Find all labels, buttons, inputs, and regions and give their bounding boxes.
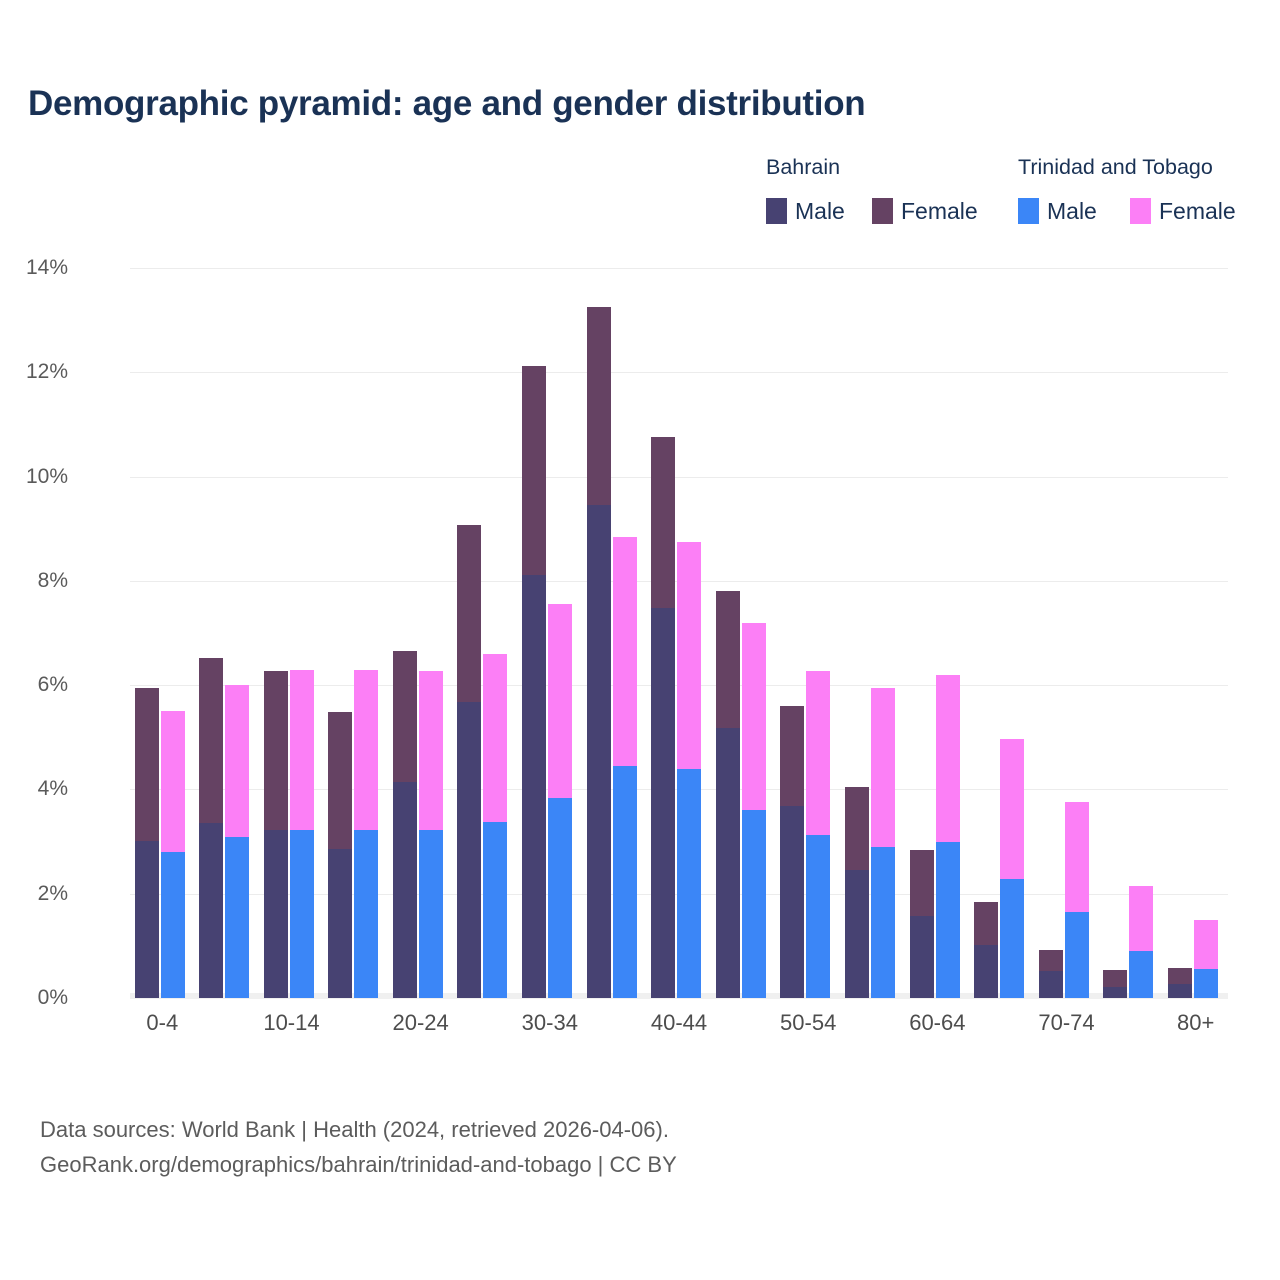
bar-segment-trinidad-and-tobago-female[interactable] bbox=[936, 675, 960, 842]
bar-segment-trinidad-and-tobago-female[interactable] bbox=[354, 670, 378, 831]
bar-group bbox=[454, 268, 519, 998]
bar-bahrain[interactable] bbox=[457, 525, 481, 998]
bar-segment-trinidad-and-tobago-female[interactable] bbox=[419, 671, 443, 830]
bar-segment-bahrain-female[interactable] bbox=[264, 671, 288, 830]
bar-segment-trinidad-and-tobago-female[interactable] bbox=[1129, 886, 1153, 951]
bar-segment-trinidad-and-tobago-male[interactable] bbox=[419, 830, 443, 998]
bar-segment-trinidad-and-tobago-female[interactable] bbox=[1194, 920, 1218, 970]
bar-segment-bahrain-female[interactable] bbox=[845, 787, 869, 870]
y-axis-tick-label: 12% bbox=[0, 360, 68, 384]
bar-segment-trinidad-and-tobago-female[interactable] bbox=[613, 537, 637, 766]
bar-bahrain[interactable] bbox=[135, 688, 159, 998]
bar-bahrain[interactable] bbox=[1039, 950, 1063, 998]
x-axis-tick-label: 50-54 bbox=[780, 1010, 836, 1036]
bar-segment-trinidad-and-tobago-male[interactable] bbox=[1129, 951, 1153, 998]
x-axis-tick-label: 10-14 bbox=[263, 1010, 319, 1036]
bar-segment-bahrain-male[interactable] bbox=[1103, 987, 1127, 998]
bar-bahrain[interactable] bbox=[199, 658, 223, 998]
bar-segment-bahrain-female[interactable] bbox=[780, 706, 804, 806]
bar-group bbox=[261, 268, 326, 998]
bar-trinidad-and-tobago[interactable] bbox=[742, 623, 766, 998]
bar-segment-trinidad-and-tobago-female[interactable] bbox=[225, 685, 249, 838]
bar-bahrain[interactable] bbox=[1103, 970, 1127, 998]
bar-segment-bahrain-male[interactable] bbox=[199, 823, 223, 998]
y-axis-tick-label: 10% bbox=[0, 465, 68, 489]
y-axis-tick-label: 4% bbox=[0, 777, 68, 801]
bar-bahrain[interactable] bbox=[328, 712, 352, 998]
bar-trinidad-and-tobago[interactable] bbox=[1000, 739, 1024, 998]
bar-segment-bahrain-male[interactable] bbox=[587, 505, 611, 998]
bar-segment-trinidad-and-tobago-male[interactable] bbox=[936, 842, 960, 998]
bar-segment-bahrain-male[interactable] bbox=[845, 870, 869, 998]
y-axis-tick-label: 14% bbox=[0, 256, 68, 280]
bar-segment-trinidad-and-tobago-female[interactable] bbox=[1000, 739, 1024, 879]
bar-segment-trinidad-and-tobago-male[interactable] bbox=[161, 852, 185, 998]
y-axis-tick-label: 6% bbox=[0, 673, 68, 697]
bar-group bbox=[132, 268, 197, 998]
bar-group bbox=[390, 268, 455, 998]
bar-group bbox=[196, 268, 261, 998]
bar-segment-bahrain-male[interactable] bbox=[522, 575, 546, 998]
bar-segment-bahrain-female[interactable] bbox=[910, 850, 934, 915]
bar-trinidad-and-tobago[interactable] bbox=[354, 670, 378, 999]
bar-group bbox=[842, 268, 907, 998]
bar-segment-trinidad-and-tobago-male[interactable] bbox=[483, 822, 507, 998]
bar-bahrain[interactable] bbox=[393, 651, 417, 998]
bar-segment-bahrain-female[interactable] bbox=[457, 525, 481, 702]
bar-segment-trinidad-and-tobago-male[interactable] bbox=[290, 830, 314, 998]
bar-segment-bahrain-male[interactable] bbox=[264, 830, 288, 998]
bar-trinidad-and-tobago[interactable] bbox=[1129, 886, 1153, 998]
bar-trinidad-and-tobago[interactable] bbox=[613, 537, 637, 998]
bar-segment-trinidad-and-tobago-male[interactable] bbox=[1194, 969, 1218, 998]
bar-bahrain[interactable] bbox=[1168, 968, 1192, 998]
bar-segment-trinidad-and-tobago-female[interactable] bbox=[742, 623, 766, 811]
bar-segment-trinidad-and-tobago-female[interactable] bbox=[1065, 802, 1089, 912]
bar-trinidad-and-tobago[interactable] bbox=[677, 542, 701, 998]
bar-group bbox=[907, 268, 972, 998]
bar-segment-bahrain-female[interactable] bbox=[716, 591, 740, 728]
x-axis-tick-label: 60-64 bbox=[909, 1010, 965, 1036]
bar-segment-bahrain-male[interactable] bbox=[135, 841, 159, 998]
bar-segment-bahrain-female[interactable] bbox=[522, 366, 546, 575]
bar-group bbox=[1165, 268, 1230, 998]
bar-segment-bahrain-male[interactable] bbox=[1168, 984, 1192, 998]
bar-segment-bahrain-female[interactable] bbox=[1039, 950, 1063, 971]
bar-trinidad-and-tobago[interactable] bbox=[548, 604, 572, 998]
bar-segment-bahrain-female[interactable] bbox=[1168, 968, 1192, 985]
x-axis-tick-label: 70-74 bbox=[1038, 1010, 1094, 1036]
plot-area: 0%2%4%6%8%10%12%14% 0-410-1420-2430-3440… bbox=[130, 268, 1228, 998]
footer: Data sources: World Bank | Health (2024,… bbox=[40, 1112, 1140, 1182]
plot-wrapper: Share of population 0%2%4%6%8%10%12%14% … bbox=[0, 0, 1280, 1280]
bar-group bbox=[713, 268, 778, 998]
bar-segment-bahrain-female[interactable] bbox=[651, 437, 675, 608]
bar-segment-trinidad-and-tobago-female[interactable] bbox=[290, 670, 314, 831]
bar-trinidad-and-tobago[interactable] bbox=[161, 711, 185, 998]
x-axis-tick-label: 80+ bbox=[1177, 1010, 1214, 1036]
bar-segment-trinidad-and-tobago-female[interactable] bbox=[483, 654, 507, 822]
bar-segment-trinidad-and-tobago-male[interactable] bbox=[354, 830, 378, 998]
footer-attribution: GeoRank.org/demographics/bahrain/trinida… bbox=[40, 1147, 1140, 1182]
bar-bahrain[interactable] bbox=[651, 437, 675, 998]
bar-segment-trinidad-and-tobago-male[interactable] bbox=[742, 810, 766, 998]
bar-trinidad-and-tobago[interactable] bbox=[1065, 802, 1089, 998]
bar-bahrain[interactable] bbox=[264, 671, 288, 998]
bar-group bbox=[648, 268, 713, 998]
bar-segment-trinidad-and-tobago-male[interactable] bbox=[1065, 912, 1089, 998]
bar-trinidad-and-tobago[interactable] bbox=[1194, 920, 1218, 998]
y-axis-tick-label: 8% bbox=[0, 569, 68, 593]
bar-segment-bahrain-male[interactable] bbox=[328, 849, 352, 998]
bar-segment-bahrain-male[interactable] bbox=[780, 806, 804, 998]
footer-data-sources: Data sources: World Bank | Health (2024,… bbox=[40, 1112, 1140, 1147]
bar-segment-bahrain-female[interactable] bbox=[974, 902, 998, 945]
bar-segment-bahrain-female[interactable] bbox=[1103, 970, 1127, 987]
bar-bahrain[interactable] bbox=[587, 307, 611, 998]
bar-segment-trinidad-and-tobago-female[interactable] bbox=[161, 711, 185, 852]
y-axis-tick-label: 2% bbox=[0, 882, 68, 906]
bar-segment-trinidad-and-tobago-male[interactable] bbox=[677, 769, 701, 998]
bar-group bbox=[777, 268, 842, 998]
bar-segment-bahrain-male[interactable] bbox=[457, 702, 481, 998]
bar-bahrain[interactable] bbox=[974, 902, 998, 998]
bar-segment-bahrain-male[interactable] bbox=[974, 945, 998, 998]
bar-segment-trinidad-and-tobago-female[interactable] bbox=[548, 604, 572, 798]
bar-group bbox=[971, 268, 1036, 998]
bar-segment-bahrain-male[interactable] bbox=[393, 782, 417, 998]
bar-segment-trinidad-and-tobago-male[interactable] bbox=[1000, 879, 1024, 998]
bar-bahrain[interactable] bbox=[910, 850, 934, 998]
bar-group bbox=[1036, 268, 1101, 998]
bar-segment-trinidad-and-tobago-male[interactable] bbox=[613, 766, 637, 998]
bar-segment-bahrain-female[interactable] bbox=[393, 651, 417, 781]
bar-segment-bahrain-female[interactable] bbox=[328, 712, 352, 849]
bar-trinidad-and-tobago[interactable] bbox=[806, 671, 830, 998]
x-axis-tick-label: 20-24 bbox=[393, 1010, 449, 1036]
bar-segment-trinidad-and-tobago-male[interactable] bbox=[548, 798, 572, 998]
bar-bahrain[interactable] bbox=[522, 366, 546, 998]
bar-segment-bahrain-male[interactable] bbox=[716, 728, 740, 998]
chart-page: Demographic pyramid: age and gender dist… bbox=[0, 0, 1280, 1280]
x-axis-tick-label: 30-34 bbox=[522, 1010, 578, 1036]
bar-segment-bahrain-male[interactable] bbox=[1039, 971, 1063, 998]
bar-trinidad-and-tobago[interactable] bbox=[871, 688, 895, 998]
bar-trinidad-and-tobago[interactable] bbox=[483, 654, 507, 998]
bar-trinidad-and-tobago[interactable] bbox=[419, 671, 443, 998]
bar-bahrain[interactable] bbox=[780, 706, 804, 998]
bar-segment-bahrain-female[interactable] bbox=[199, 658, 223, 824]
bar-segment-bahrain-female[interactable] bbox=[135, 688, 159, 841]
bar-segment-trinidad-and-tobago-male[interactable] bbox=[225, 837, 249, 998]
bar-trinidad-and-tobago[interactable] bbox=[225, 685, 249, 998]
bar-segment-trinidad-and-tobago-female[interactable] bbox=[677, 542, 701, 769]
bar-bahrain[interactable] bbox=[845, 787, 869, 998]
bar-group bbox=[325, 268, 390, 998]
bar-segment-bahrain-male[interactable] bbox=[651, 608, 675, 998]
x-axis-tick-label: 0-4 bbox=[146, 1010, 178, 1036]
bar-segment-trinidad-and-tobago-male[interactable] bbox=[806, 835, 830, 998]
bar-trinidad-and-tobago[interactable] bbox=[936, 675, 960, 998]
bar-bahrain[interactable] bbox=[716, 591, 740, 998]
bar-segment-bahrain-male[interactable] bbox=[910, 916, 934, 998]
bar-group bbox=[584, 268, 649, 998]
bar-segment-trinidad-and-tobago-female[interactable] bbox=[871, 688, 895, 847]
y-axis-tick-label: 0% bbox=[0, 986, 68, 1010]
bar-group bbox=[1100, 268, 1165, 998]
bar-trinidad-and-tobago[interactable] bbox=[290, 670, 314, 999]
x-axis-tick-label: 40-44 bbox=[651, 1010, 707, 1036]
bar-segment-bahrain-female[interactable] bbox=[587, 307, 611, 505]
bar-segment-trinidad-and-tobago-female[interactable] bbox=[806, 671, 830, 835]
bar-segment-trinidad-and-tobago-male[interactable] bbox=[871, 847, 895, 998]
bar-group bbox=[519, 268, 584, 998]
